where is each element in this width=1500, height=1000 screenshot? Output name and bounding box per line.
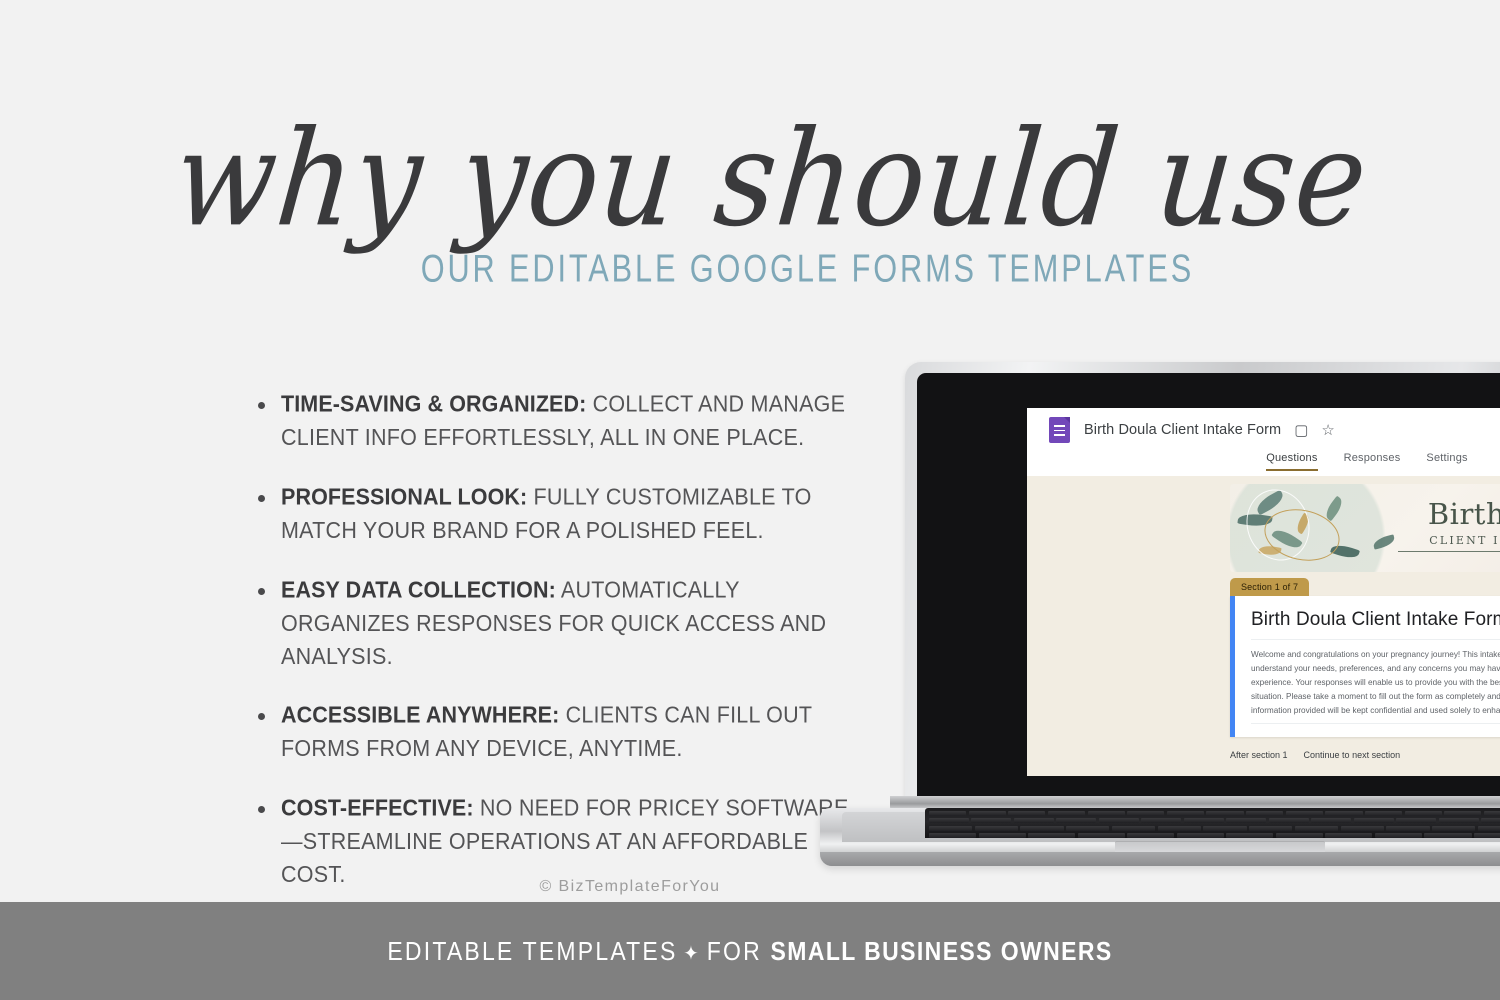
laptop-lid: Birth Doula Client Intake Form ▢ ☆ Quest… [905, 362, 1500, 802]
laptop-mockup: Birth Doula Client Intake Form ▢ ☆ Quest… [820, 362, 1500, 867]
after-section-row: After section 1 Continue to next section… [1230, 750, 1500, 760]
hero-headline-wrap: why you should use [0, 125, 1500, 249]
tab-settings[interactable]: Settings [1426, 452, 1467, 469]
star-icon[interactable]: ☆ [1321, 423, 1334, 438]
form-card-title[interactable]: Birth Doula Client Intake Form [1251, 609, 1500, 640]
section-tab-1-wrap: Section 1 of 7 [1230, 572, 1500, 596]
watermark: © BizTemplateForYou [0, 878, 1500, 896]
google-forms-canvas: Birth Doula CLIENT INTAKE FORM Section 1… [1027, 476, 1500, 776]
bullet-dot-icon [258, 713, 265, 720]
section-tab-2-wrap: Section 2 of 7 [1230, 760, 1500, 776]
footer-bar: EDITABLE TEMPLATES✦FOR SMALL BUSINESS OW… [0, 902, 1500, 1000]
keyboard-row [925, 818, 1500, 823]
benefit-lead: ACCESSIBLE ANYWHERE: [281, 702, 559, 727]
diamond-icon: ✦ [678, 941, 707, 963]
form-card-description[interactable]: Welcome and congratulations on your preg… [1251, 648, 1500, 724]
list-item: EASY DATA COLLECTION: AUTOMATICALLY ORGA… [258, 574, 858, 669]
form-document-title[interactable]: Birth Doula Client Intake Form [1084, 422, 1281, 438]
list-item: ACCESSIBLE ANYWHERE: CLIENTS CAN FILL OU… [258, 699, 858, 762]
page-subtitle: OUR EDITABLE GOOGLE FORMS TEMPLATES [306, 246, 1195, 291]
banner-title: Birth Doula [1398, 500, 1500, 529]
folder-icon[interactable]: ▢ [1294, 423, 1308, 438]
benefit-text: EASY DATA COLLECTION: AUTOMATICALLY ORGA… [281, 574, 858, 674]
form-banner-image[interactable]: Birth Doula CLIENT INTAKE FORM [1230, 484, 1500, 572]
section-tab-1[interactable]: Section 1 of 7 [1230, 578, 1309, 596]
list-item: TIME-SAVING & ORGANIZED: COLLECT AND MAN… [258, 388, 858, 451]
tab-responses[interactable]: Responses [1344, 452, 1401, 469]
page-title: why you should use [139, 110, 1373, 249]
tab-questions[interactable]: Questions [1266, 452, 1317, 471]
footer-text: EDITABLE TEMPLATES✦FOR SMALL BUSINESS OW… [387, 936, 1112, 966]
benefits-list: TIME-SAVING & ORGANIZED: COLLECT AND MAN… [258, 388, 858, 887]
benefit-lead: EASY DATA COLLECTION: [281, 578, 556, 603]
after-section-value: Continue to next section [1304, 750, 1401, 760]
after-section-select[interactable]: Continue to next section ▾ [1304, 750, 1500, 760]
bullet-dot-icon [258, 806, 265, 813]
list-item: COST-EFFECTIVE: NO NEED FOR PRICEY SOFTW… [258, 792, 858, 887]
after-section-label: After section 1 [1230, 750, 1288, 760]
benefit-lead: TIME-SAVING & ORGANIZED: [281, 391, 586, 416]
bullet-dot-icon [258, 402, 265, 409]
keyboard-row [925, 826, 1500, 831]
laptop-screen: Birth Doula Client Intake Form ▢ ☆ Quest… [1027, 408, 1500, 776]
form-card[interactable]: Birth Doula Client Intake Form Welcome a… [1230, 596, 1500, 737]
banner-subtitle: CLIENT INTAKE FORM [1398, 534, 1500, 552]
keyboard-row [925, 833, 1500, 838]
footer-lead: EDITABLE TEMPLATES [387, 936, 677, 965]
benefit-text: TIME-SAVING & ORGANIZED: COLLECT AND MAN… [281, 388, 858, 455]
google-forms-icon [1049, 417, 1070, 443]
banner-text-group: Birth Doula CLIENT INTAKE FORM [1398, 500, 1500, 552]
google-forms-tabs: Questions Responses Settings [1027, 452, 1500, 476]
footer-mid: FOR [707, 936, 762, 965]
laptop-front-edge [820, 852, 1500, 866]
benefit-text: PROFESSIONAL LOOK: FULLY CUSTOMIZABLE TO… [281, 481, 858, 548]
keyboard-row [925, 811, 1500, 816]
bullet-dot-icon [258, 495, 265, 502]
hero-subheadline-wrap: OUR EDITABLE GOOGLE FORMS TEMPLATES [0, 250, 1500, 287]
benefit-lead: PROFESSIONAL LOOK: [281, 484, 527, 509]
footer-emphasis: SMALL BUSINESS OWNERS [771, 936, 1113, 965]
list-item: PROFESSIONAL LOOK: FULLY CUSTOMIZABLE TO… [258, 481, 858, 544]
benefit-text: ACCESSIBLE ANYWHERE: CLIENTS CAN FILL OU… [281, 699, 858, 766]
benefit-lead: COST-EFFECTIVE: [281, 796, 474, 821]
form-column: Birth Doula CLIENT INTAKE FORM Section 1… [1230, 484, 1500, 776]
laptop-keyboard [925, 808, 1500, 838]
google-forms-header: Birth Doula Client Intake Form ▢ ☆ [1027, 408, 1500, 452]
bullet-dot-icon [258, 588, 265, 595]
